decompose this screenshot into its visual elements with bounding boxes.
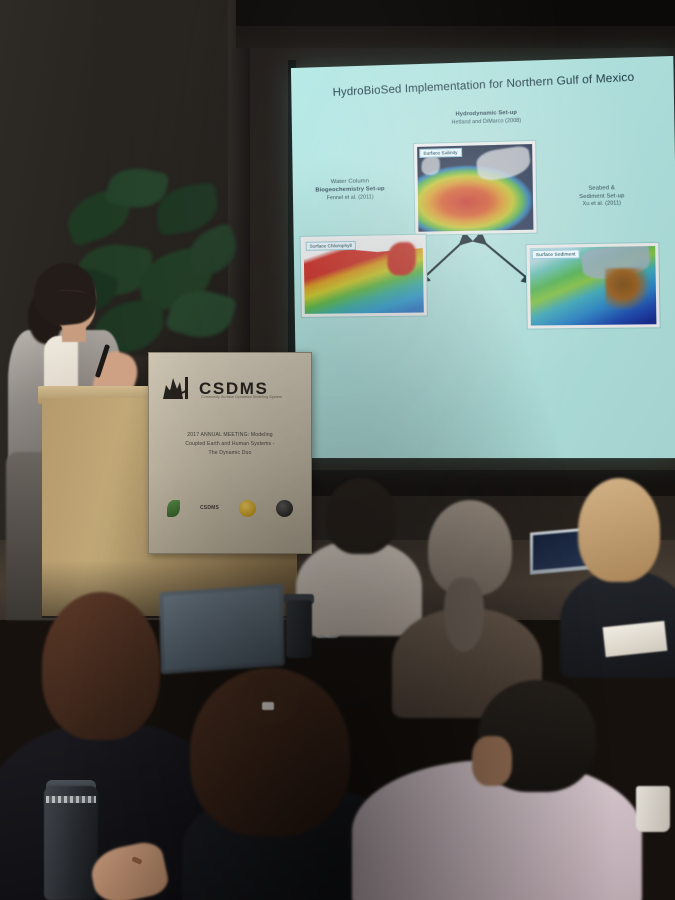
- sponsor-dark-seal-icon: [276, 500, 293, 517]
- ceiling-strip: [236, 0, 675, 26]
- sponsor-logos: CSDMS: [157, 495, 303, 521]
- csdms-mark-icon: [161, 373, 195, 403]
- sponsor-wordmark: CSDMS: [200, 505, 219, 511]
- hair-bun: [240, 672, 300, 724]
- sediment-label-group: Seabed & Sediment Set-up Xu et al. (2011…: [547, 184, 656, 209]
- map-surface-chlorophyll: Surface Chlorophyll: [300, 234, 428, 318]
- csdms-logo: CSDMS: [161, 371, 301, 405]
- sponsor-logo-icon: [167, 500, 180, 517]
- map-caption-chlorophyll: Surface Chlorophyll: [306, 241, 356, 251]
- audience-laptop-front: [159, 584, 284, 675]
- map-caption-salinity: Surface Salinity: [419, 148, 462, 158]
- meeting-title: 2017 ANNUAL MEETING: Modeling Coupled Ea…: [159, 431, 301, 458]
- projection-screen: HydroBioSed Implementation for Northern …: [291, 56, 675, 458]
- map-caption-sediment: Surface Sediment: [532, 249, 580, 259]
- map-surface-salinity: Surface Salinity: [413, 140, 538, 236]
- hydrodynamics-label-group: Hydrodynamic Set-up Hetland and DiMarco …: [419, 109, 555, 127]
- audience-head-dark-hair: [326, 478, 396, 554]
- biogeochemistry-citation: Fennel et al. (2011): [297, 193, 404, 202]
- audience-shoulders-light: [296, 540, 422, 636]
- bottle-ring: [46, 796, 96, 803]
- biogeochemistry-label-group: Water Column Biogeochemistry Set-up Fenn…: [297, 178, 404, 203]
- audience-ponytail-hair: [444, 578, 484, 652]
- csdms-tagline: Community Surface Dynamics Modeling Syst…: [201, 395, 305, 399]
- water-bottle-foreground: [44, 786, 98, 900]
- meeting-line-3: The Dynamic Duo: [159, 449, 301, 458]
- audience-head-brown-hair: [42, 592, 160, 740]
- meeting-line-1: 2017 ANNUAL MEETING: Modeling: [159, 431, 301, 440]
- sediment-citation: Xu et al. (2011): [548, 200, 657, 209]
- audience-head-blonde: [578, 478, 660, 582]
- audience-neck: [472, 736, 512, 786]
- travel-tumbler: [286, 600, 312, 658]
- map-surface-sediment: Surface Sediment: [525, 242, 660, 330]
- hair-clip-icon: [262, 702, 274, 710]
- sponsor-gold-seal-icon: [239, 500, 256, 517]
- presentation-photo: HydroBioSed Implementation for Northern …: [0, 0, 675, 900]
- slide-title: HydroBioSed Implementation for Northern …: [307, 70, 661, 100]
- csdms-wordmark: CSDMS: [199, 380, 268, 397]
- conference-banner: CSDMS Community Surface Dynamics Modelin…: [148, 352, 312, 554]
- paper-cup: [636, 786, 670, 832]
- meeting-line-2: Coupled Earth and Human Systems -: [159, 440, 301, 449]
